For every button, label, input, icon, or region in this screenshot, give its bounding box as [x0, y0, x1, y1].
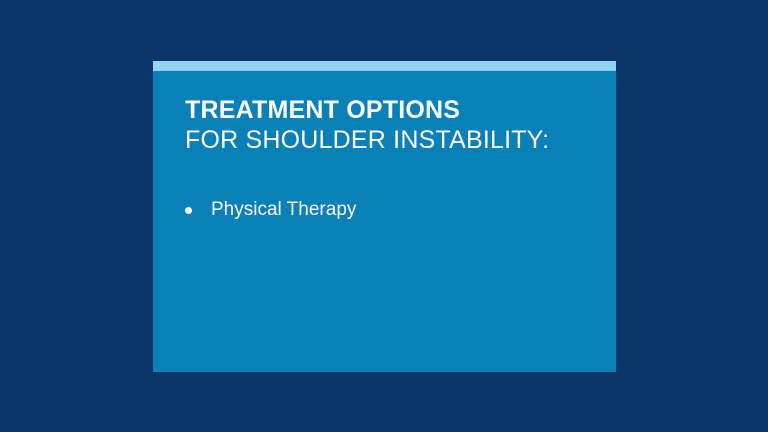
list-item: Physical Therapy	[185, 196, 585, 224]
heading-line-primary: TREATMENT OPTIONS	[185, 95, 605, 125]
content-panel: TREATMENT OPTIONS FOR SHOULDER INSTABILI…	[153, 61, 616, 372]
slide-heading: TREATMENT OPTIONS FOR SHOULDER INSTABILI…	[185, 95, 605, 155]
slide-canvas: TREATMENT OPTIONS FOR SHOULDER INSTABILI…	[0, 0, 768, 432]
accent-bar	[153, 61, 616, 71]
heading-line-secondary: FOR SHOULDER INSTABILITY:	[185, 125, 605, 155]
bullet-dot-icon	[185, 207, 192, 214]
bullet-list: Physical Therapy	[185, 196, 585, 224]
list-item-label: Physical Therapy	[211, 199, 356, 220]
